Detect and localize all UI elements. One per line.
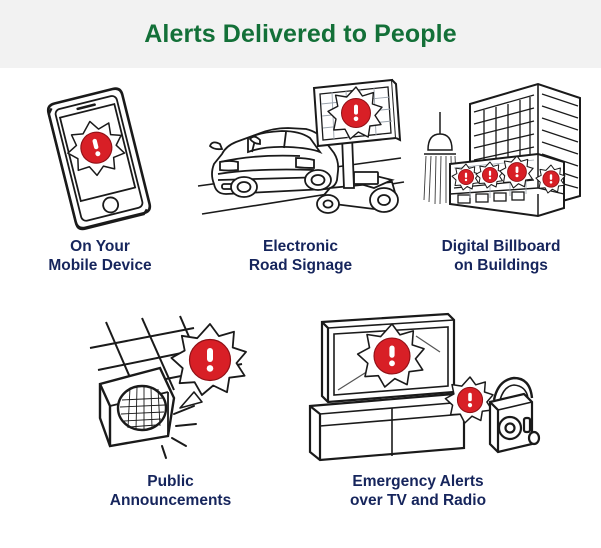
item-caption: Public Announcements [110, 472, 231, 510]
item-tv-radio: Emergency Alerts over TV and Radio [288, 306, 548, 510]
tv-radio-alert-icon [298, 306, 538, 466]
item-public-announcements: Public Announcements [53, 306, 288, 510]
pa-speaker-alert-icon [76, 306, 266, 466]
icon-row-top: On Your Mobile Device [0, 76, 601, 275]
smartphone-alert-icon [30, 76, 170, 231]
item-caption: On Your Mobile Device [48, 237, 151, 275]
page-title: Alerts Delivered to People [0, 0, 601, 68]
building-billboard-alert-icon [414, 76, 589, 231]
item-road-signage: Electronic Road Signage [200, 76, 401, 275]
icon-row-bottom: Public Announcements [0, 306, 601, 510]
road-sign-trailer-alert-icon [196, 76, 406, 231]
item-caption: Emergency Alerts over TV and Radio [350, 472, 486, 510]
item-mobile-device: On Your Mobile Device [0, 76, 200, 275]
item-caption: Electronic Road Signage [249, 237, 352, 275]
item-digital-billboard: Digital Billboard on Buildings [401, 76, 601, 275]
infographic-page: Alerts Delivered to People [0, 0, 601, 548]
item-caption: Digital Billboard on Buildings [442, 237, 561, 275]
